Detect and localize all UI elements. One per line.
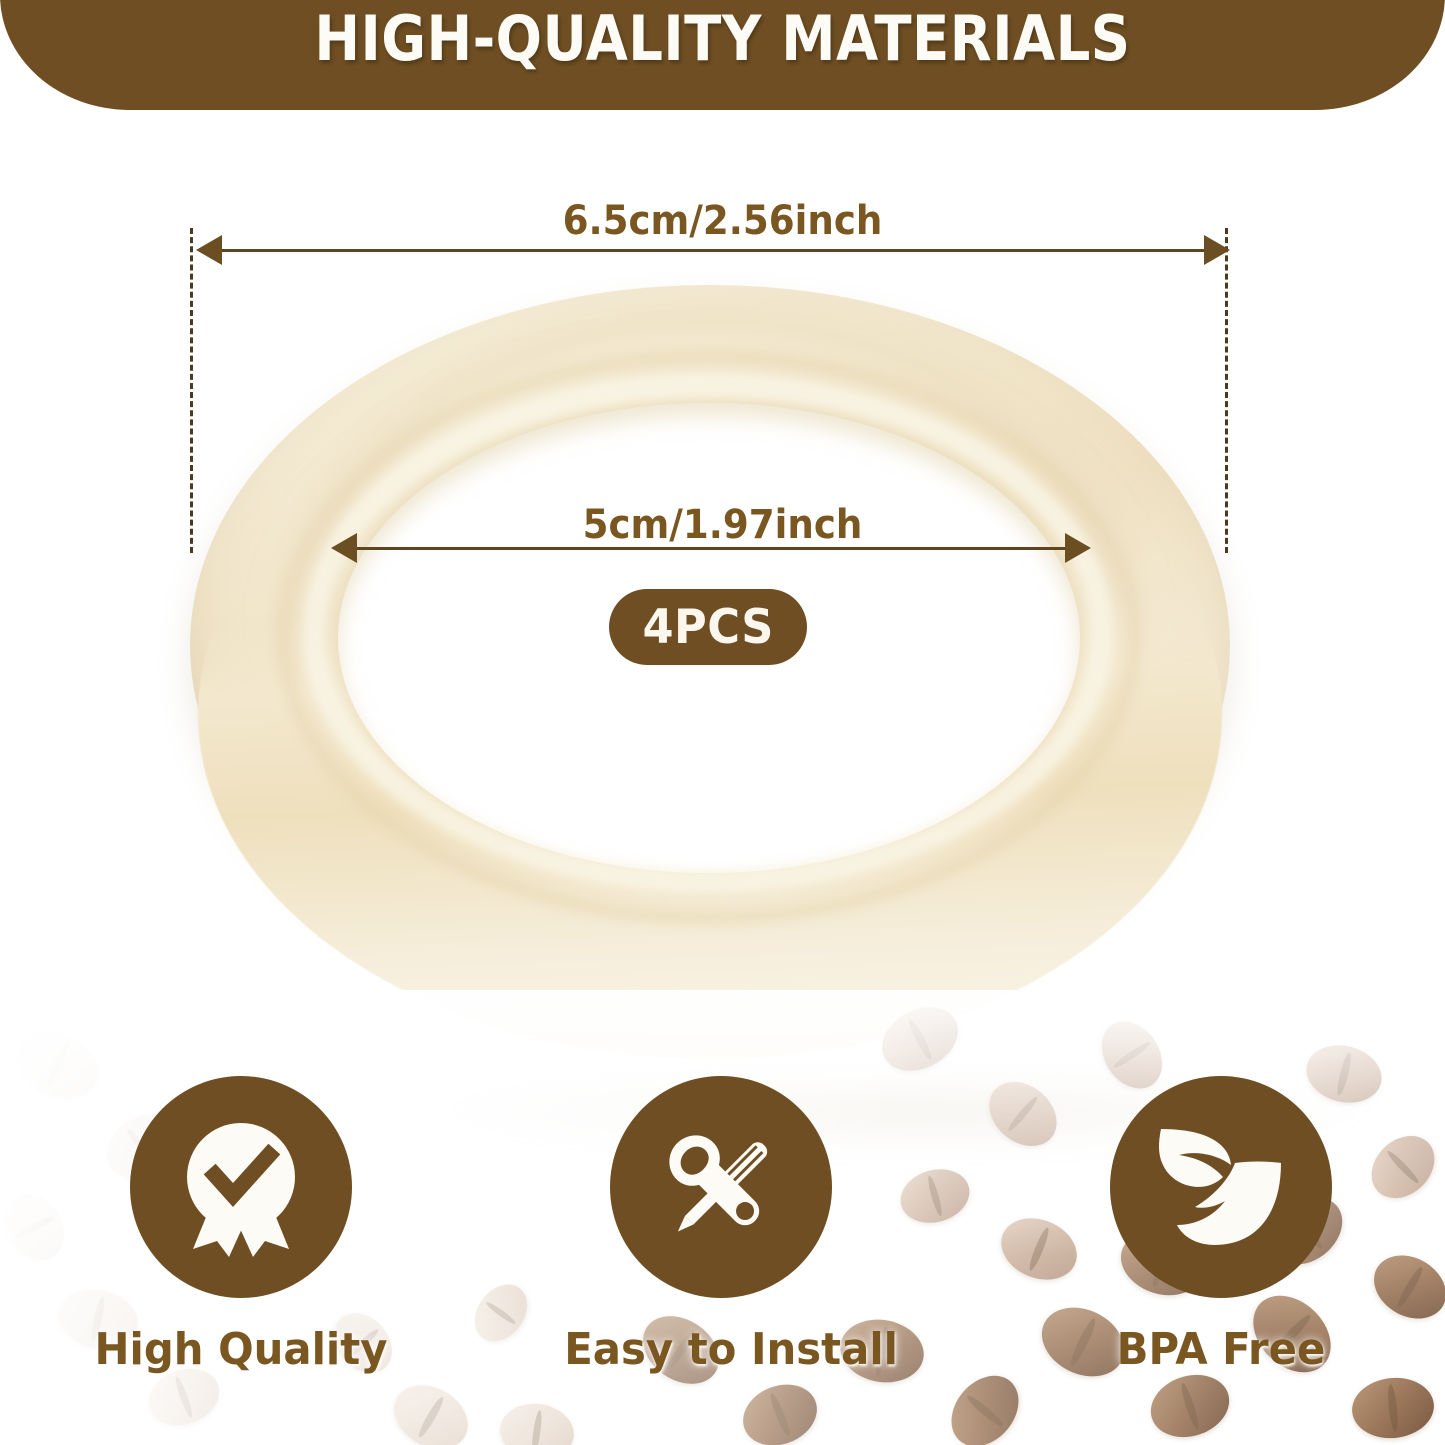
outer-dimension-arrow: [196, 248, 1230, 252]
medal-ribbon-check-icon: [175, 1117, 307, 1257]
coffee-bean: [0, 1183, 75, 1270]
header-banner: HIGH-QUALITY MATERIALS: [0, 0, 1445, 110]
coffee-bean: [1349, 1374, 1437, 1442]
feature-easy-to-install: Easy to Install: [556, 1076, 886, 1375]
coffee-bean: [734, 1374, 826, 1445]
feature-label: High Quality: [84, 1324, 398, 1375]
feature-icon-circle: [610, 1076, 832, 1298]
feature-high-quality: High Quality: [76, 1076, 406, 1375]
quantity-badge-label: 4PCS: [642, 600, 773, 655]
two-leaves-icon: [1153, 1121, 1289, 1253]
feature-icon-circle: [1110, 1076, 1332, 1298]
coffee-bean: [383, 1372, 480, 1445]
outer-dimension-label: 6.5cm/2.56inch: [51, 198, 1395, 244]
inner-dimension-label: 5cm/1.97inch: [51, 502, 1395, 548]
coffee-bean: [1143, 1365, 1238, 1445]
feature-label: BPA Free: [1064, 1324, 1378, 1375]
wrench-screwdriver-icon: [653, 1119, 789, 1255]
feature-icon-circle: [130, 1076, 352, 1298]
quantity-badge: 4PCS: [609, 589, 807, 665]
feature-label: Easy to Install: [564, 1324, 878, 1375]
page-title: HIGH-QUALITY MATERIALS: [87, 2, 1359, 75]
dimension-line: [222, 249, 1204, 252]
coffee-bean: [894, 1161, 976, 1230]
feature-bpa-free: BPA Free: [1056, 1076, 1386, 1375]
coffee-bean: [871, 995, 969, 1084]
coffee-bean: [464, 1274, 538, 1351]
coffee-bean: [938, 1362, 1033, 1445]
product-infographic: HIGH-QUALITY MATERIALS 6.5cm/2.56inch 5c…: [0, 0, 1445, 1445]
coffee-bean: [496, 1399, 577, 1445]
